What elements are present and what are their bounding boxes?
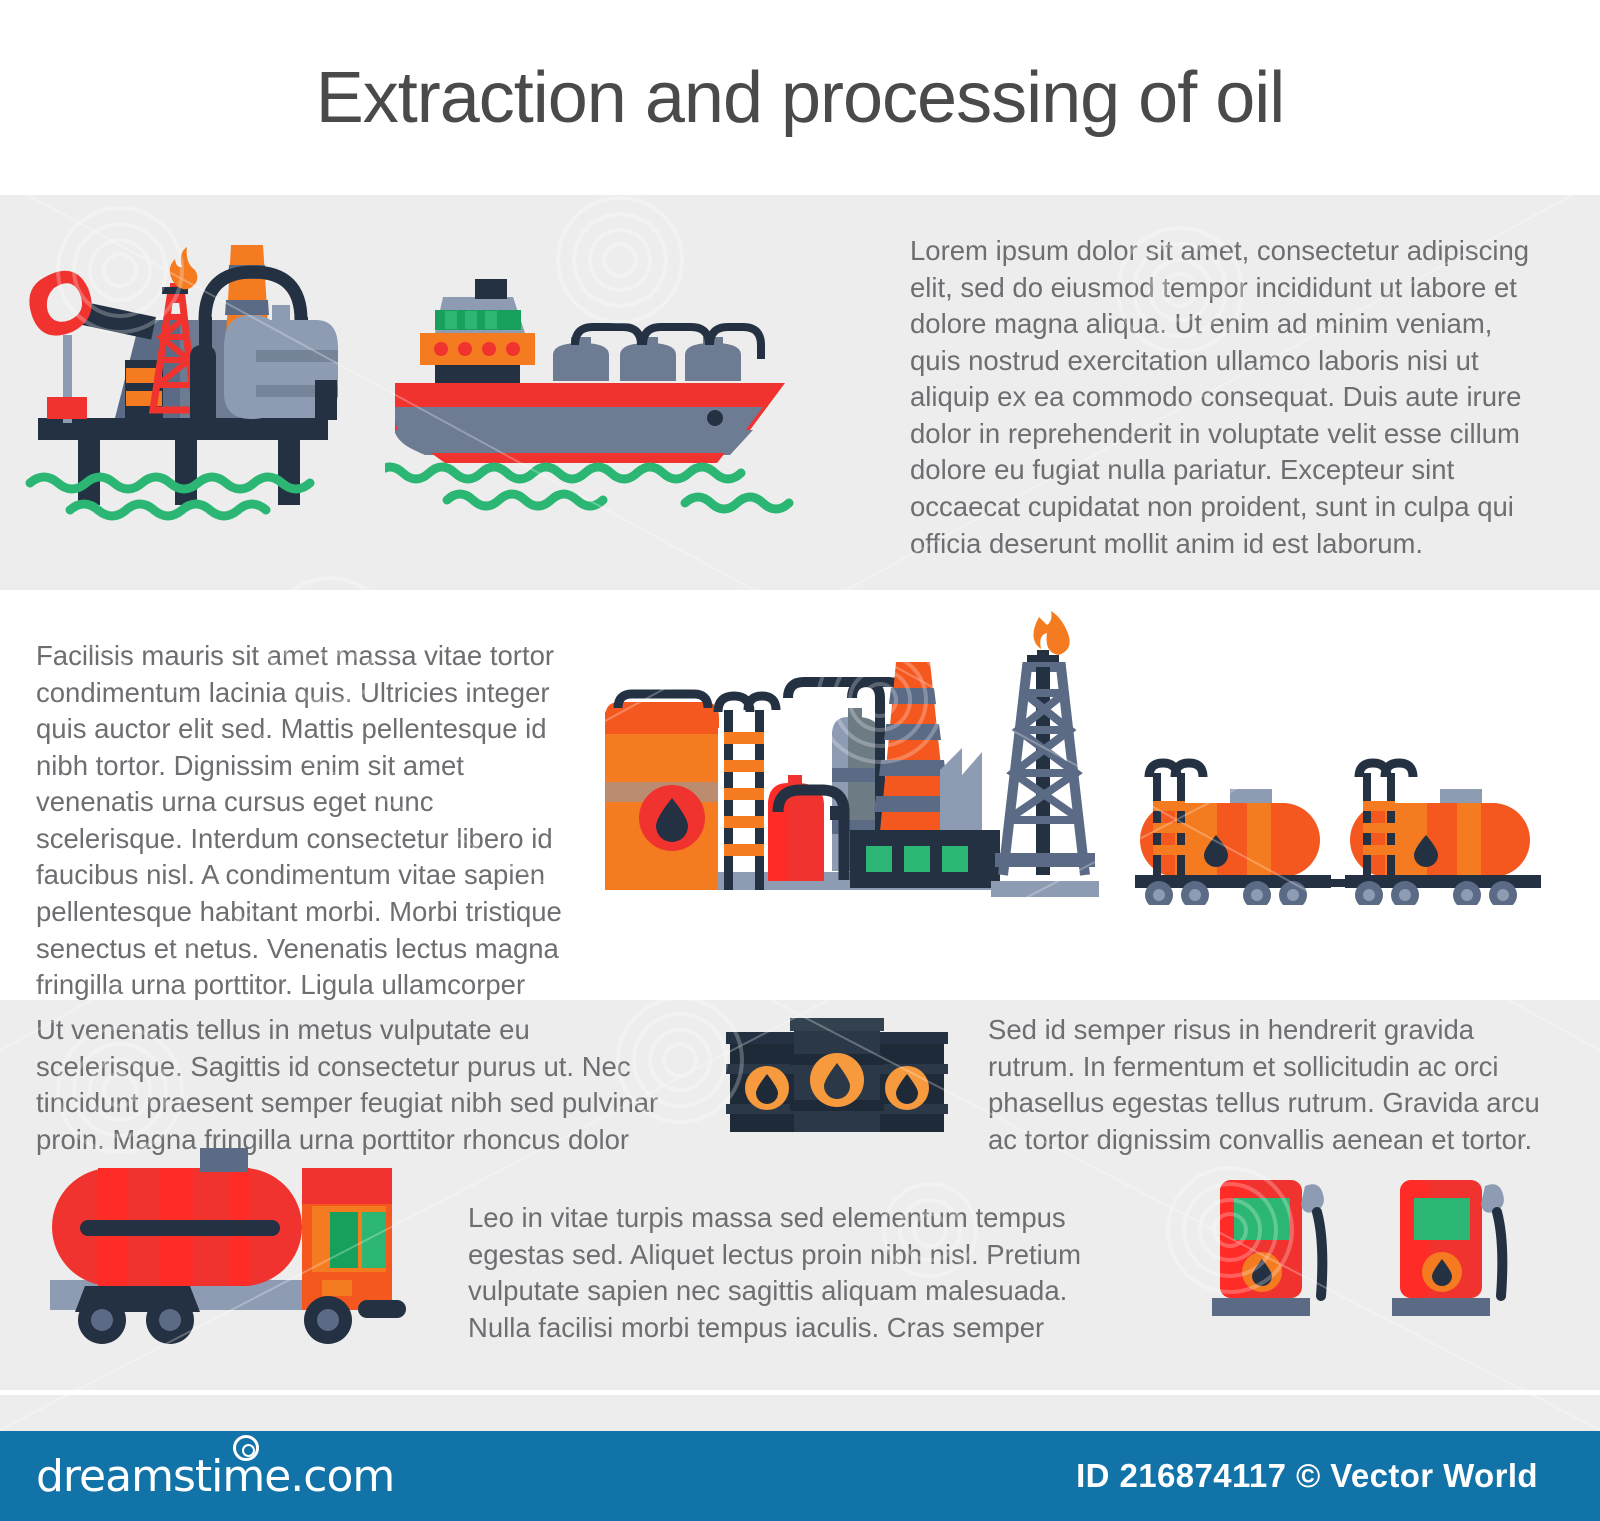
- dreamstime-logo[interactable]: dreamstime.com: [36, 1451, 394, 1502]
- dreamstime-logo-text: dreamstime.com: [36, 1451, 394, 1502]
- offshore-oil-platform-icon: [20, 225, 370, 525]
- image-credit: ID 216874117 © Vector World: [1076, 1457, 1538, 1495]
- fuel-pump-left-icon: [1212, 1172, 1347, 1322]
- page-header: Extraction and processing of oil: [0, 0, 1600, 195]
- extraction-text-block: Lorem ipsum dolor sit amet, consectetur …: [880, 195, 1600, 590]
- distribution-text-right: Sed id semper risus in hendrerit gravida…: [988, 1012, 1548, 1158]
- processing-paragraph: Facilisis mauris sit amet massa vitae to…: [36, 638, 570, 1040]
- footer-bar: dreamstime.com ID 216874117 © Vector Wor…: [0, 1431, 1600, 1521]
- fuel-pump-right-icon: [1392, 1172, 1527, 1322]
- distribution-paragraph-left: Ut venenatis tellus in metus vulputate e…: [36, 1012, 676, 1158]
- railway-tank-cars-icon: [1135, 745, 1555, 905]
- section-distribution: Ut venenatis tellus in metus vulputate e…: [0, 1000, 1600, 1390]
- oil-tanker-ship-icon: [385, 255, 805, 515]
- page-title: Extraction and processing of oil: [316, 62, 1285, 134]
- extraction-paragraph: Lorem ipsum dolor sit amet, consectetur …: [910, 233, 1538, 562]
- drilling-derrick-icon: [955, 605, 1135, 900]
- distribution-paragraph-right: Sed id semper risus in hendrerit gravida…: [988, 1012, 1548, 1158]
- extraction-illustration-group: [0, 195, 880, 590]
- oil-refinery-plant-icon: [600, 600, 1000, 900]
- distribution-text-center: Leo in vitae turpis massa sed elementum …: [468, 1200, 1088, 1346]
- processing-text-block: Facilisis mauris sit amet massa vitae to…: [0, 590, 600, 1000]
- distribution-paragraph-center: Leo in vitae turpis massa sed elementum …: [468, 1200, 1088, 1346]
- section-processing: Facilisis mauris sit amet massa vitae to…: [0, 590, 1600, 1000]
- tanker-truck-icon: [40, 1140, 440, 1345]
- section-extraction: Lorem ipsum dolor sit amet, consectetur …: [0, 195, 1600, 590]
- dreamstime-spiral-icon: [233, 1435, 259, 1461]
- footer-spacer: [0, 1395, 1600, 1431]
- oil-barrels-icon: [722, 1008, 952, 1133]
- distribution-text-left: Ut venenatis tellus in metus vulputate e…: [36, 1012, 676, 1158]
- processing-illustration-group: [600, 590, 1600, 1000]
